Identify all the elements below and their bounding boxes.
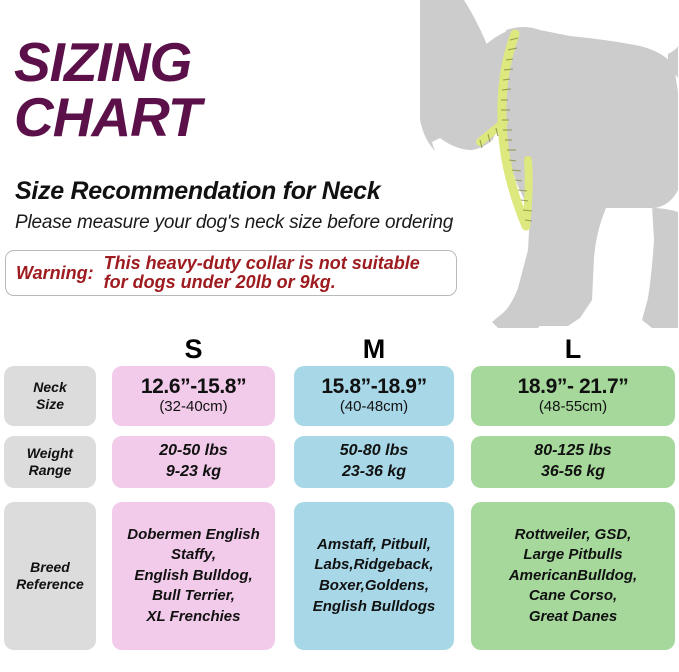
warning-message: This heavy-duty collar is not suitable f… xyxy=(94,254,420,293)
neck-size-cm-m: (40-48cm) xyxy=(340,399,408,416)
breed-l-line1: Rottweiler, GSD, xyxy=(509,525,638,546)
neck-size-cm-s: (32-40cm) xyxy=(159,399,227,416)
breed-s-line4: Bull Terrier, xyxy=(146,586,241,607)
breed-m-line1: Amstaff, Pitbull, xyxy=(311,535,437,556)
page-title-line2: CHART xyxy=(14,91,200,144)
weight-kg-m: 23-36 kg xyxy=(342,462,406,483)
weight-lbs-m: 50-80 lbs xyxy=(340,441,408,462)
breed-l-line2: Large Pitbulls xyxy=(517,545,628,566)
row-label-neck-size: Neck Size xyxy=(4,366,96,426)
row-label-weight-line1: Weight xyxy=(27,445,73,463)
breed-m-line2: Labs,Ridgeback, xyxy=(308,555,439,576)
neck-size-cell-l: 18.9”- 21.7” (48-55cm) xyxy=(471,366,675,426)
size-header-m: M xyxy=(294,334,454,365)
row-label-neck-line1: Neck xyxy=(33,379,66,397)
breed-m-line4: English Bulldogs xyxy=(307,597,442,618)
neck-size-inches-m: 15.8”-18.9” xyxy=(321,376,426,398)
dog-illustration xyxy=(420,0,679,330)
breed-l-line3: AmericanBulldog, xyxy=(503,566,643,587)
neck-size-cell-s: 12.6”-15.8” (32-40cm) xyxy=(112,366,275,426)
dog-silhouette-icon xyxy=(420,0,678,328)
page-title: SIZING CHART xyxy=(14,36,200,145)
breed-l-line4: Cane Corso, xyxy=(523,586,623,607)
size-header-s: S xyxy=(112,334,275,365)
row-label-neck-line2: Size xyxy=(36,396,64,414)
breed-reference-cell-s: Dobermen English Staffy, English Bulldog… xyxy=(112,502,275,650)
breed-l-line5: Great Danes xyxy=(523,607,623,628)
instruction-text: Please measure your dog's neck size befo… xyxy=(15,212,453,234)
section-heading: Size Recommendation for Neck xyxy=(15,177,380,206)
warning-box: Warning: This heavy-duty collar is not s… xyxy=(5,250,457,296)
sizing-table: S M L Neck Size 12.6”-15.8” (32-40cm) 15… xyxy=(0,332,679,650)
table-row: Neck Size 12.6”-15.8” (32-40cm) 15.8”-18… xyxy=(0,366,679,426)
warning-message-line2: for dogs under 20lb or 9kg. xyxy=(104,273,420,292)
neck-size-cell-m: 15.8”-18.9” (40-48cm) xyxy=(294,366,454,426)
breed-reference-cell-l: Rottweiler, GSD, Large Pitbulls American… xyxy=(471,502,675,650)
row-label-weight-range: Weight Range xyxy=(4,436,96,488)
weight-range-cell-l: 80-125 lbs 36-56 kg xyxy=(471,436,675,488)
neck-size-cm-l: (48-55cm) xyxy=(539,399,607,416)
row-label-weight-line2: Range xyxy=(29,462,72,480)
size-header-l: L xyxy=(471,334,675,365)
table-header-row: S M L xyxy=(0,332,679,366)
weight-lbs-l: 80-125 lbs xyxy=(534,441,611,462)
weight-kg-l: 36-56 kg xyxy=(541,462,605,483)
neck-size-inches-l: 18.9”- 21.7” xyxy=(518,376,629,398)
breed-s-line2: Staffy, xyxy=(165,545,222,566)
neck-size-inches-s: 12.6”-15.8” xyxy=(141,376,246,398)
row-label-breed-line2: Reference xyxy=(16,576,84,594)
breed-s-line1: Dobermen English xyxy=(121,525,266,546)
weight-range-cell-m: 50-80 lbs 23-36 kg xyxy=(294,436,454,488)
table-row: Weight Range 20-50 lbs 9-23 kg 50-80 lbs… xyxy=(0,436,679,488)
warning-message-line1: This heavy-duty collar is not suitable xyxy=(104,254,420,273)
weight-range-cell-s: 20-50 lbs 9-23 kg xyxy=(112,436,275,488)
breed-s-line5: XL Frenchies xyxy=(141,607,247,628)
breed-m-line3: Boxer,Goldens, xyxy=(313,576,435,597)
breed-reference-cell-m: Amstaff, Pitbull, Labs,Ridgeback, Boxer,… xyxy=(294,502,454,650)
warning-label: Warning: xyxy=(6,263,94,284)
table-row: Breed Reference Dobermen English Staffy,… xyxy=(0,502,679,650)
weight-lbs-s: 20-50 lbs xyxy=(159,441,227,462)
breed-s-line3: English Bulldog, xyxy=(128,566,258,587)
weight-kg-s: 9-23 kg xyxy=(166,462,221,483)
page-title-line1: SIZING xyxy=(14,36,200,89)
row-label-breed-line1: Breed xyxy=(30,559,70,577)
row-label-breed-reference: Breed Reference xyxy=(4,502,96,650)
